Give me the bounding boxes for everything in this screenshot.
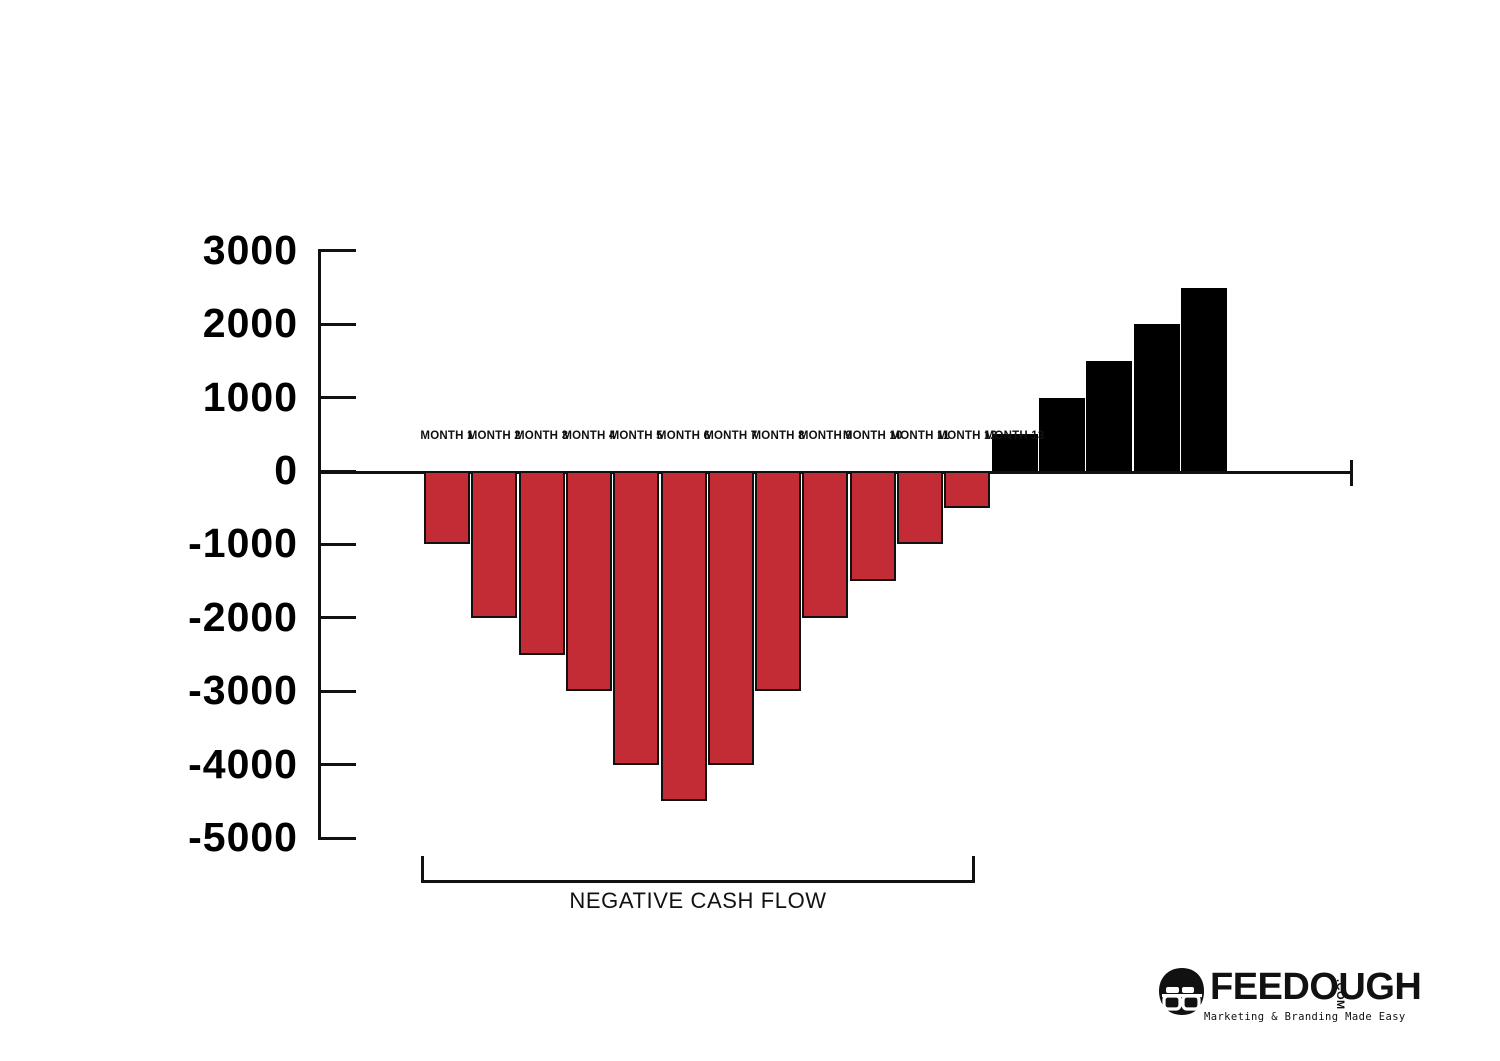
- logo-dotcom: .COM: [1334, 979, 1346, 1010]
- month-label-7: MONTH 7: [704, 430, 757, 442]
- month-label-6: MONTH 6: [657, 430, 710, 442]
- bar-4: [566, 471, 612, 691]
- bar-17: [1181, 288, 1227, 472]
- logo-wordmark: FEEDOUGH: [1210, 968, 1421, 1006]
- logo-tagline: Marketing & Branding Made Easy: [1204, 1011, 1406, 1023]
- bar-7: [708, 471, 754, 765]
- bar-15: [1086, 361, 1132, 471]
- bar-8: [755, 471, 801, 691]
- bar-16: [1134, 324, 1180, 471]
- bar-6: [661, 471, 707, 801]
- bar-3: [519, 471, 565, 655]
- month-label-13: MONTH 13: [985, 430, 1045, 442]
- month-label-3: MONTH 3: [515, 430, 568, 442]
- bar-5: [613, 471, 659, 765]
- month-label-8: MONTH 8: [752, 430, 805, 442]
- negative-cash-flow-label: NEGATIVE CASH FLOW: [421, 888, 975, 914]
- month-label-2: MONTH 2: [468, 430, 521, 442]
- bar-11: [897, 471, 943, 544]
- month-label-4: MONTH 4: [562, 430, 615, 442]
- month-label-5: MONTH 5: [610, 430, 663, 442]
- bar-12: [944, 471, 990, 508]
- bar-1: [424, 471, 470, 544]
- bar-10: [850, 471, 896, 581]
- month-label-1: MONTH 1: [420, 430, 473, 442]
- feedough-logo: FEEDOUGH .COM Marketing & Branding Made …: [1158, 965, 1370, 1027]
- feedough-face-icon: [1158, 967, 1206, 1019]
- bar-14: [1039, 398, 1085, 471]
- bar-9: [802, 471, 848, 618]
- bar-2: [471, 471, 517, 618]
- chart-canvas: 3000200010000-1000-2000-3000-4000-5000 M…: [0, 0, 1500, 1061]
- negative-cash-flow-bracket: [421, 856, 975, 883]
